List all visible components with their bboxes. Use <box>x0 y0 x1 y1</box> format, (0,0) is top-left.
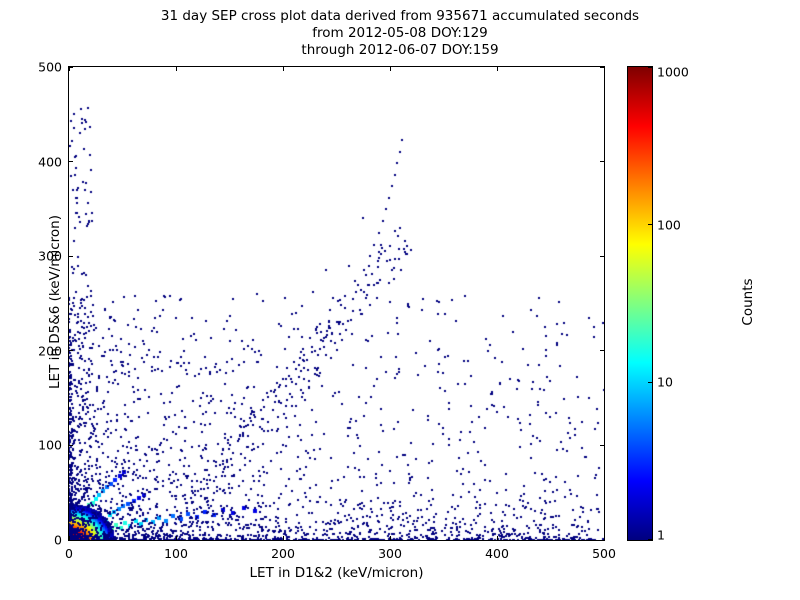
y-axis-tick <box>600 445 604 446</box>
x-axis-tick-label: 400 <box>485 546 509 561</box>
chart-title: 31 day SEP cross plot data derived from … <box>0 8 800 59</box>
x-axis-tick <box>176 536 177 540</box>
colorbar-tick <box>648 67 652 68</box>
figure-canvas: 31 day SEP cross plot data derived from … <box>0 0 800 600</box>
title-line-2: from 2012-05-08 DOY:129 <box>0 25 800 42</box>
x-axis-tick-label: 100 <box>164 546 188 561</box>
y-axis-tick-label: 400 <box>20 154 62 169</box>
x-axis-tick <box>283 536 284 540</box>
y-axis-tick <box>69 540 73 541</box>
x-axis-label: LET in D1&2 (keV/micron) <box>68 565 605 581</box>
y-axis-tick <box>69 445 73 446</box>
title-line-3: through 2012-06-07 DOY:159 <box>0 42 800 59</box>
colorbar-tick-label: 100 <box>657 217 697 232</box>
colorbar-tick <box>648 539 652 540</box>
colorbar <box>627 66 653 541</box>
y-axis-tick <box>69 161 73 162</box>
y-axis-tick-label: 500 <box>20 60 62 75</box>
y-axis-tick <box>69 67 73 68</box>
y-axis-label: LET in D5&6 (keV/micron) <box>47 172 63 432</box>
title-line-1: 31 day SEP cross plot data derived from … <box>0 8 800 25</box>
x-axis-tick <box>390 67 391 71</box>
colorbar-label: Counts <box>740 202 756 402</box>
colorbar-tick <box>648 224 652 225</box>
colorbar-tick <box>648 382 652 383</box>
y-axis-tick <box>600 350 604 351</box>
x-axis-tick <box>604 67 605 71</box>
x-axis-tick <box>69 67 70 71</box>
y-axis-tick <box>600 256 604 257</box>
y-axis-tick <box>600 67 604 68</box>
y-axis-tick <box>600 161 604 162</box>
colorbar-tick-label: 1000 <box>657 65 697 80</box>
x-axis-tick-label: 200 <box>271 546 295 561</box>
x-axis-tick-label: 500 <box>592 546 616 561</box>
colorbar-tick-label: 10 <box>657 375 697 390</box>
x-axis-tick <box>390 536 391 540</box>
y-axis-tick-label: 0 <box>20 533 62 548</box>
scatter-points-layer <box>69 67 604 540</box>
x-axis-tick <box>283 67 284 71</box>
y-axis-tick <box>600 540 604 541</box>
y-axis-tick <box>69 350 73 351</box>
x-axis-tick <box>497 67 498 71</box>
y-axis-tick <box>69 256 73 257</box>
y-axis-tick-label: 100 <box>20 438 62 453</box>
x-axis-tick <box>176 67 177 71</box>
x-axis-tick-label: 300 <box>378 546 402 561</box>
scatter-plot-area <box>68 66 605 541</box>
colorbar-gradient <box>628 67 652 540</box>
x-axis-tick <box>497 536 498 540</box>
colorbar-tick-label: 1 <box>657 528 697 543</box>
x-axis-tick-label: 0 <box>65 546 73 561</box>
